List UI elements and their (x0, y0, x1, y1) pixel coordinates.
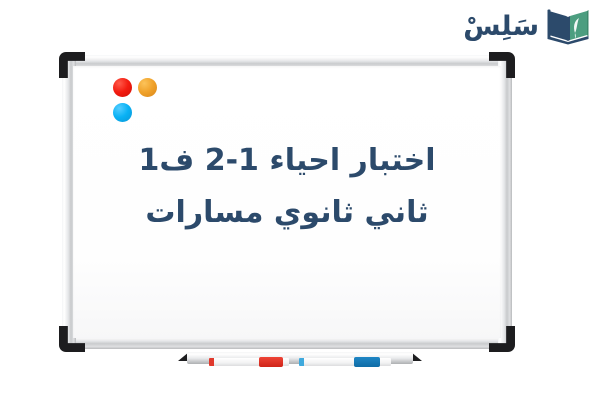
marker-tray (175, 348, 425, 370)
whiteboard-title-line-1: اختبار احياء 1-2 ف1 (139, 144, 436, 179)
brand-logo-group: سَلِسْ (463, 4, 590, 48)
open-book-icon (546, 7, 590, 45)
marker-red-band (259, 357, 283, 367)
whiteboard-text-block: اختبار احياء 1-2 ف1 ثاني ثانوي مسارات (73, 66, 501, 338)
marker-blue-band (354, 357, 380, 367)
brand-wordmark: سَلِسْ (463, 13, 539, 40)
marker-blue-cap (299, 358, 304, 366)
whiteboard: اختبار احياء 1-2 ف1 ثاني ثانوي مسارات (62, 55, 512, 349)
marker-red-cap (209, 358, 214, 366)
tray-shelf (187, 352, 413, 364)
whiteboard-title-line-2: ثاني ثانوي مسارات (145, 196, 428, 231)
